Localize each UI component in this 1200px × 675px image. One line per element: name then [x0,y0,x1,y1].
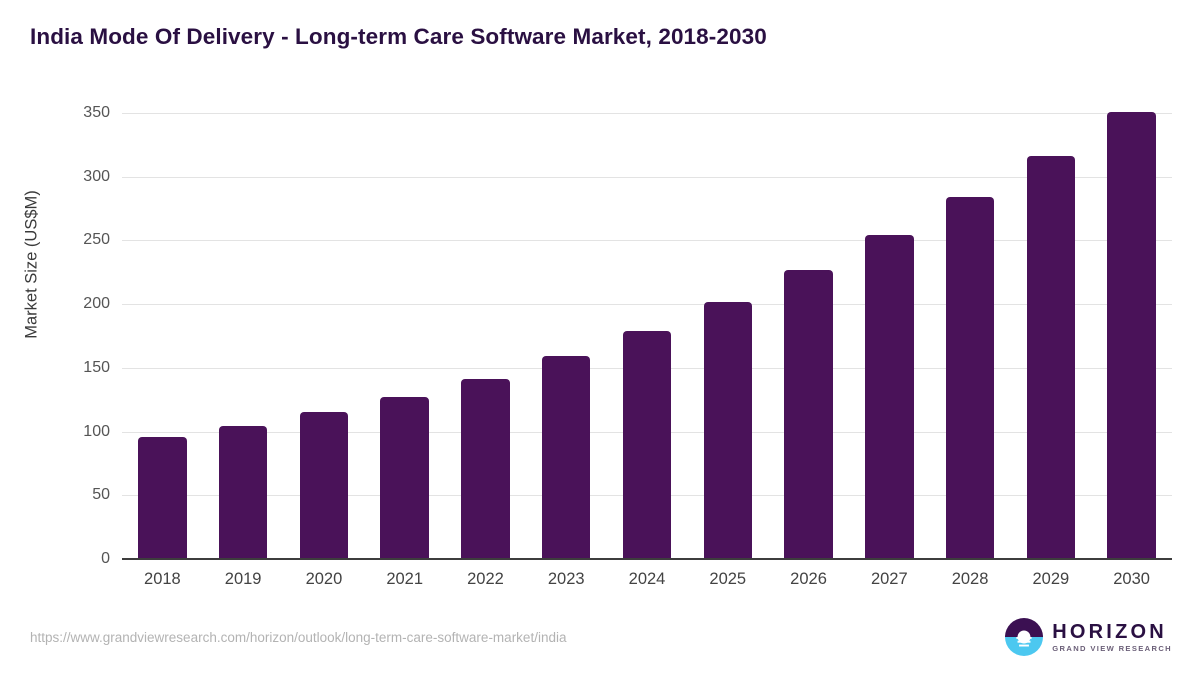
bar-2019[interactable] [219,426,267,559]
brand-wordmark: HORIZON [1052,622,1172,642]
bar-2020[interactable] [300,412,348,559]
y-axis-tick-label: 350 [2,104,110,122]
x-axis-tick-label: 2026 [790,570,827,589]
x-axis-tick-label: 2030 [1113,570,1150,589]
x-axis-line [122,558,1172,560]
x-axis-tick-label: 2020 [306,570,343,589]
y-axis-tick-label: 150 [2,359,110,377]
x-axis-tick-label: 2025 [709,570,746,589]
y-axis-tick-label: 300 [2,168,110,186]
bar-2022[interactable] [461,379,509,559]
horizon-circle-icon [1005,618,1043,656]
bar-2021[interactable] [380,397,428,559]
bar-2030[interactable] [1107,112,1155,559]
bar-2023[interactable] [542,356,590,559]
y-axis-tick-label: 50 [2,486,110,504]
source-url-text: https://www.grandviewresearch.com/horizo… [30,630,566,645]
bars-layer [122,113,1172,559]
bar-2026[interactable] [784,270,832,559]
y-axis-tick-label: 200 [2,295,110,313]
brand-logo: HORIZON GRAND VIEW RESEARCH [1005,618,1172,656]
bar-2027[interactable] [865,235,913,559]
bar-2028[interactable] [946,197,994,559]
y-axis-tick-label: 250 [2,231,110,249]
chart-page: India Mode Of Delivery - Long-term Care … [0,0,1200,675]
y-axis-tick-label: 0 [2,550,110,568]
x-axis-tick-labels: 2018201920202021202220232024202520262027… [122,570,1172,600]
bar-2029[interactable] [1027,156,1075,559]
x-axis-tick-label: 2027 [871,570,908,589]
x-axis-tick-label: 2018 [144,570,181,589]
brand-tagline: GRAND VIEW RESEARCH [1052,645,1172,653]
x-axis-tick-label: 2024 [629,570,666,589]
x-axis-tick-label: 2022 [467,570,504,589]
y-axis-tick-labels: 050100150200250300350 [0,113,110,559]
bar-2024[interactable] [623,331,671,559]
page-title: India Mode Of Delivery - Long-term Care … [30,24,767,50]
y-axis-tick-label: 100 [2,423,110,441]
x-axis-tick-label: 2028 [952,570,989,589]
bar-2025[interactable] [704,302,752,559]
brand-logo-text: HORIZON GRAND VIEW RESEARCH [1052,622,1172,653]
x-axis-tick-label: 2021 [386,570,423,589]
x-axis-tick-label: 2029 [1032,570,1069,589]
bar-2018[interactable] [138,437,186,559]
x-axis-tick-label: 2023 [548,570,585,589]
x-axis-tick-label: 2019 [225,570,262,589]
